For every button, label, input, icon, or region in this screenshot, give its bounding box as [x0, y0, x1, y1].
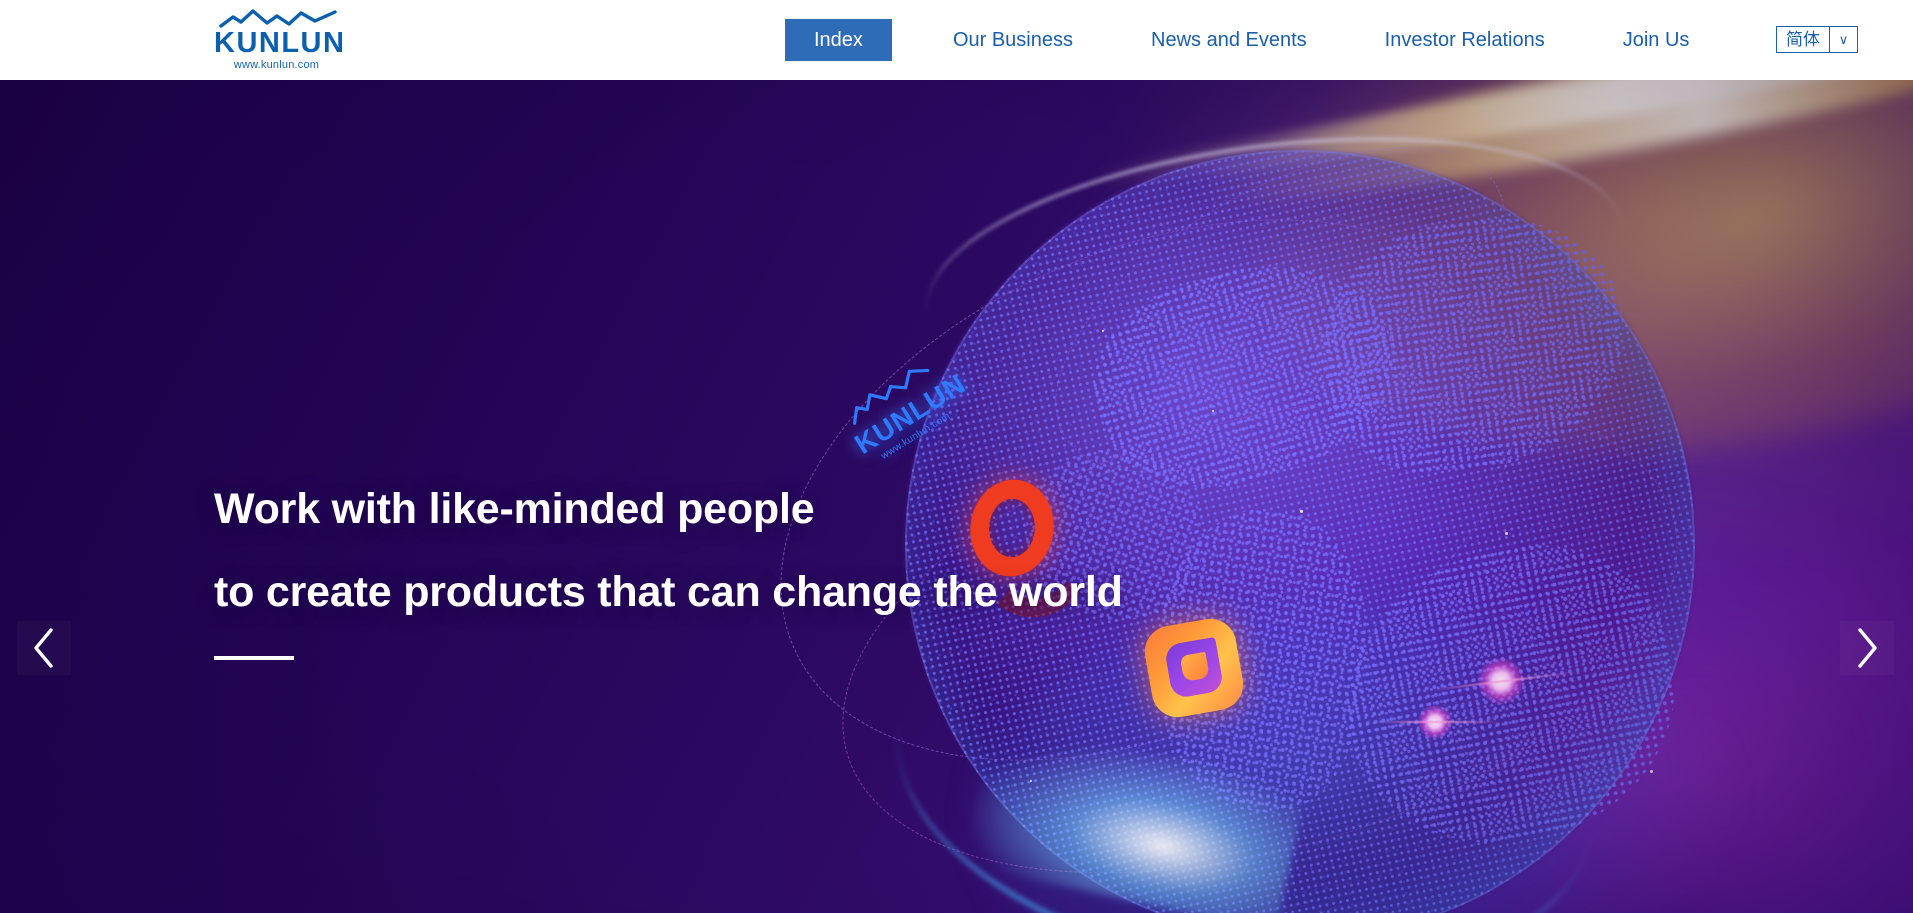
chevron-right-icon: [1854, 627, 1880, 669]
hero-headline-line-1: Work with like-minded people: [214, 468, 1123, 551]
hero-copy: Work with like-minded people to create p…: [214, 468, 1123, 660]
nav-item-index[interactable]: Index: [785, 19, 892, 61]
site-header: KUNLUN www.kunlun.com Index Our Business…: [0, 0, 1913, 80]
language-selector[interactable]: 简体 ∨: [1776, 26, 1858, 53]
chevron-left-icon: [31, 627, 57, 669]
hero-underline-rule: [214, 656, 294, 660]
hero-carousel-slide: KUNLUN www.kunlun.com Work with like-min…: [0, 80, 1913, 913]
site-logo[interactable]: KUNLUN www.kunlun.com: [214, 6, 339, 72]
logo-wordmark: KUNLUN: [214, 28, 339, 58]
main-navigation: Index Our Business News and Events Inves…: [785, 0, 1706, 80]
nav-item-investor-relations[interactable]: Investor Relations: [1368, 19, 1562, 61]
nav-item-join-us[interactable]: Join Us: [1606, 19, 1707, 61]
nav-item-news-and-events[interactable]: News and Events: [1134, 19, 1324, 61]
orange-app-icon: [1141, 615, 1248, 722]
carousel-prev-button[interactable]: [17, 621, 71, 675]
hero-headline-line-2: to create products that can change the w…: [214, 551, 1123, 634]
logo-url: www.kunlun.com: [214, 59, 339, 71]
chevron-down-icon: ∨: [1830, 27, 1857, 52]
language-selector-value: 简体: [1777, 27, 1830, 52]
nav-item-our-business[interactable]: Our Business: [936, 19, 1090, 61]
carousel-next-button[interactable]: [1840, 621, 1894, 675]
